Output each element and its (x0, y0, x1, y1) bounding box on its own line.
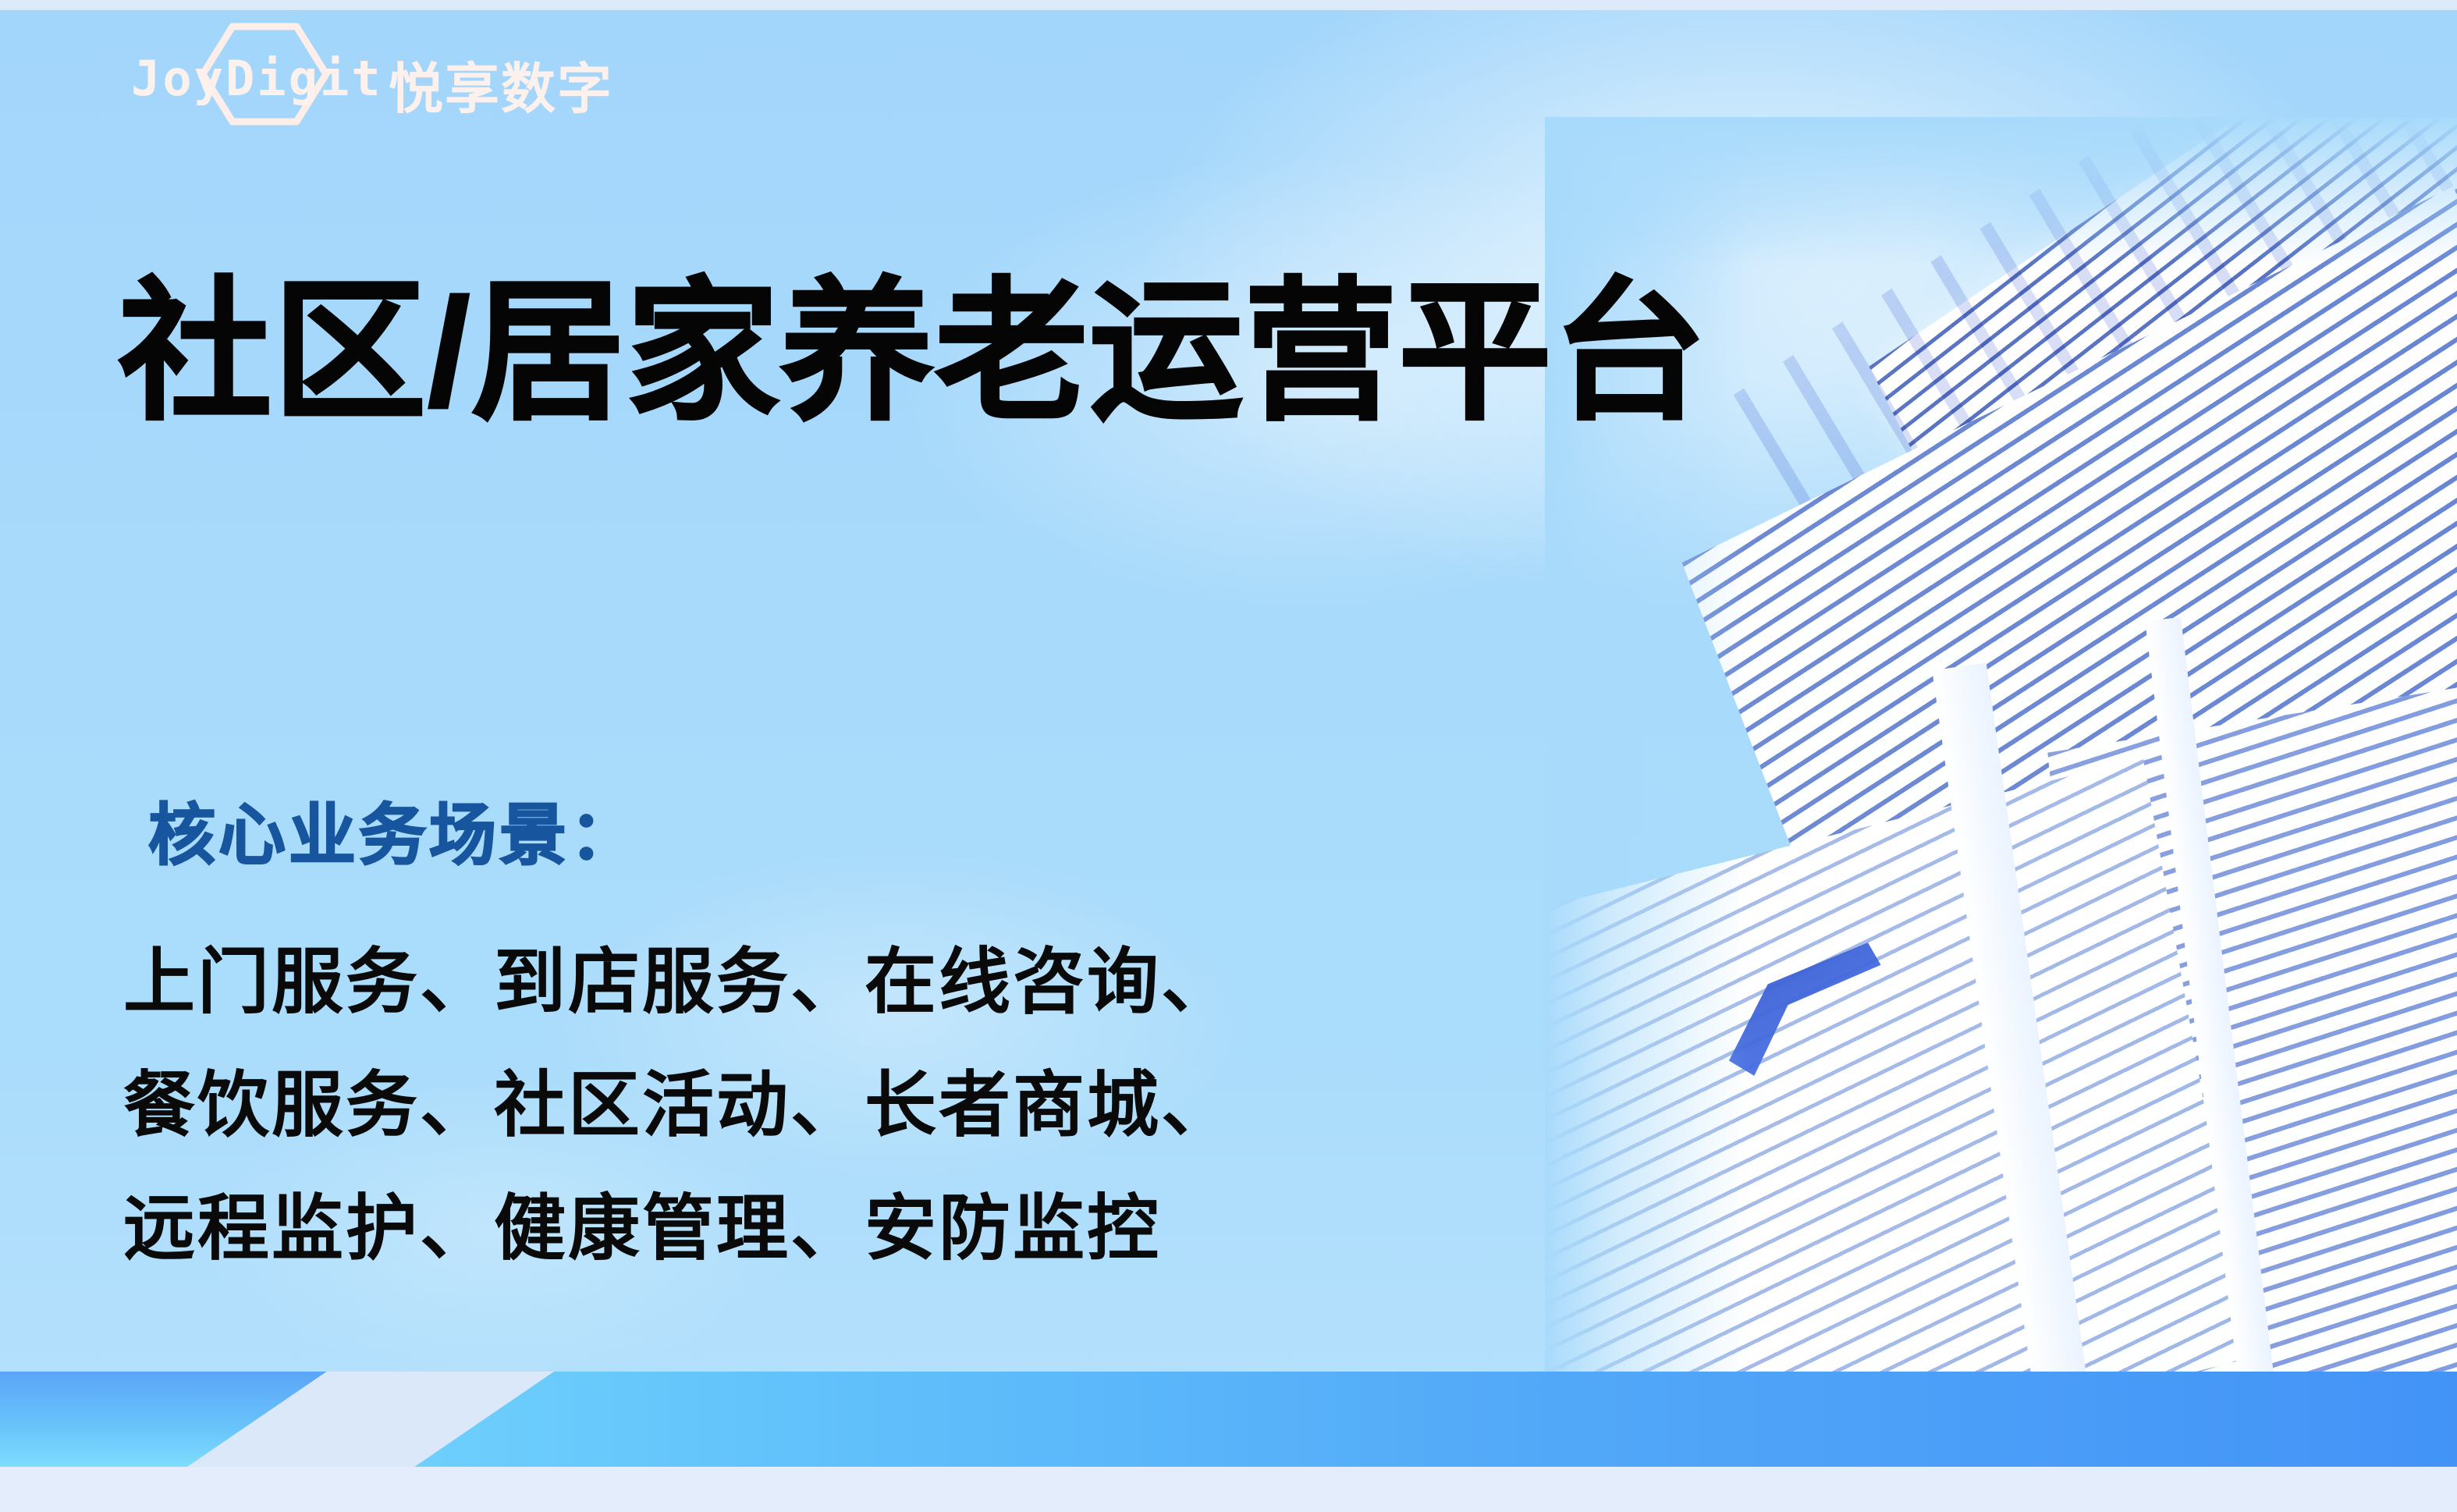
scenario-line: 远程监护、健康管理、安防监控 (123, 1167, 1235, 1290)
building-tower-lower (1545, 758, 2249, 1373)
brand-logo[interactable]: JoyDigit 悦享数字 (131, 28, 662, 120)
top-edge-strip (0, 0, 2457, 10)
footer-band-main (242, 1372, 2457, 1467)
scenario-line: 餐饮服务、社区活动、长者商城、 (123, 1044, 1235, 1167)
brand-wordmark-cn: 悦享数字 (389, 45, 613, 124)
footer-decoration (0, 1372, 2457, 1512)
page-title: 社区/居家养老运营平台 (119, 270, 1707, 435)
slide-root: JoyDigit 悦享数字 社区/居家养老运营平台 核心业务场景： 上门服务、到… (0, 0, 2457, 1512)
footer-base-strip (0, 1467, 2457, 1512)
scenario-list: 上门服务、到店服务、在线咨询、 餐饮服务、社区活动、长者商城、 远程监护、健康管… (123, 921, 1235, 1291)
section-label-core-scenarios: 核心业务场景： (148, 780, 640, 878)
scenario-line: 上门服务、到店服务、在线咨询、 (123, 921, 1235, 1044)
brand-wordmark: JoyDigit (131, 50, 383, 107)
